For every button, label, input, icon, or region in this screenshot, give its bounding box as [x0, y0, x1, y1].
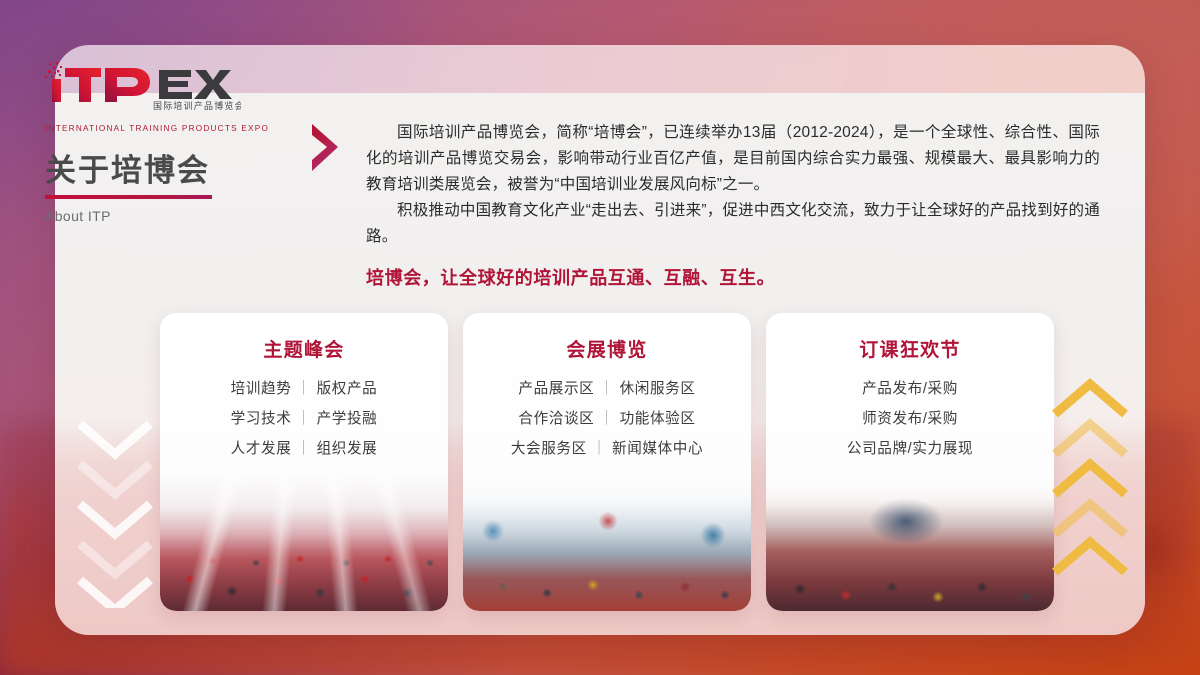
- card-line-list: 产品发布/采购 师资发布/采购 公司品牌/实力展现: [766, 362, 1054, 464]
- card-line-list: 培训趋势｜版权产品 学习技术｜产学投融 人才发展｜组织发展: [160, 362, 448, 464]
- card-line-separator: ｜: [587, 441, 612, 457]
- card-line-left: 师资发布/采购: [862, 411, 958, 427]
- card-line-left: 产品展示区: [518, 381, 594, 397]
- card-photo: [463, 475, 751, 611]
- feature-card-list: 主题峰会 培训趋势｜版权产品 学习技术｜产学投融 人才发展｜组织发展 会展博览 …: [160, 313, 1055, 611]
- feature-card[interactable]: 会展博览 产品展示区｜休闲服务区 合作洽谈区｜功能体验区 大会服务区｜新闻媒体中…: [463, 313, 751, 611]
- itp-logo-mark: 国际培训产品博览会: [45, 58, 241, 120]
- card-line: 学习技术｜产学投融: [170, 404, 438, 434]
- card-line-left: 培训趋势: [231, 381, 292, 397]
- itp-logo-cn-icon: 国际培训产品博览会: [45, 98, 241, 120]
- about-copy: 国际培训产品博览会，简称“培博会”，已连续举办13届（2012-2024），是一…: [366, 120, 1100, 292]
- card-line: 产品发布/采购: [776, 374, 1044, 404]
- itp-logo-tagline: INTERNATIONAL TRAINING PRODUCTS EXPO: [45, 124, 285, 133]
- card-line-right: 休闲服务区: [620, 381, 696, 397]
- card-line: 人才发展｜组织发展: [170, 434, 438, 464]
- card-title: 主题峰会: [160, 313, 448, 362]
- card-line-separator: ｜: [594, 411, 619, 427]
- chevron-up-stack-icon: [1047, 378, 1133, 583]
- card-line-right: 版权产品: [317, 381, 378, 397]
- card-line-left: 公司品牌/实力展现: [847, 441, 973, 457]
- card-title: 订课狂欢节: [766, 313, 1054, 362]
- feature-card[interactable]: 订课狂欢节 产品发布/采购 师资发布/采购 公司品牌/实力展现: [766, 313, 1054, 611]
- card-line-left: 大会服务区: [511, 441, 587, 457]
- copy-slogan: 培博会，让全球好的培训产品互通、互融、互生。: [366, 264, 1100, 292]
- card-line-right: 新闻媒体中心: [612, 441, 703, 457]
- chevron-right-icon: [308, 122, 348, 179]
- copy-paragraph-2: 积极推动中国教育文化产业“走出去、引进来”，促进中西文化交流，致力于让全球好的产…: [366, 198, 1100, 250]
- card-line-list: 产品展示区｜休闲服务区 合作洽谈区｜功能体验区 大会服务区｜新闻媒体中心: [463, 362, 751, 464]
- card-line: 培训趋势｜版权产品: [170, 374, 438, 404]
- page-title: 关于培博会: [45, 155, 285, 186]
- card-line-right: 功能体验区: [620, 411, 696, 427]
- logo-cn-text: 国际培训产品博览会: [153, 100, 241, 111]
- card-line: 合作洽谈区｜功能体验区: [473, 404, 741, 434]
- card-line: 大会服务区｜新闻媒体中心: [473, 434, 741, 464]
- card-title: 会展博览: [463, 313, 751, 362]
- feature-card[interactable]: 主题峰会 培训趋势｜版权产品 学习技术｜产学投融 人才发展｜组织发展: [160, 313, 448, 611]
- card-line-separator: ｜: [291, 411, 316, 427]
- copy-paragraph-1: 国际培训产品博览会，简称“培博会”，已连续举办13届（2012-2024），是一…: [366, 120, 1100, 198]
- card-line-left: 人才发展: [231, 441, 292, 457]
- card-line: 师资发布/采购: [776, 404, 1044, 434]
- itp-logo: 国际培训产品博览会: [45, 58, 285, 120]
- page-subtitle: About ITP: [45, 208, 285, 224]
- card-line-right: 组织发展: [317, 441, 378, 457]
- card-photo: [160, 475, 448, 611]
- card-line-separator: ｜: [594, 381, 619, 397]
- title-underline: [45, 195, 212, 199]
- card-line-separator: ｜: [291, 441, 316, 457]
- card-line: 产品展示区｜休闲服务区: [473, 374, 741, 404]
- header-block: 国际培训产品博览会 INTERNATIONAL TRAINING PRODUCT…: [45, 58, 285, 224]
- card-line-separator: ｜: [291, 381, 316, 397]
- card-line: 公司品牌/实力展现: [776, 434, 1044, 464]
- chevron-down-stack-icon: [72, 418, 158, 613]
- card-line-left: 合作洽谈区: [518, 411, 594, 427]
- card-photo: [766, 475, 1054, 611]
- card-line-left: 学习技术: [231, 411, 292, 427]
- card-line-left: 产品发布/采购: [862, 381, 958, 397]
- card-line-right: 产学投融: [317, 411, 378, 427]
